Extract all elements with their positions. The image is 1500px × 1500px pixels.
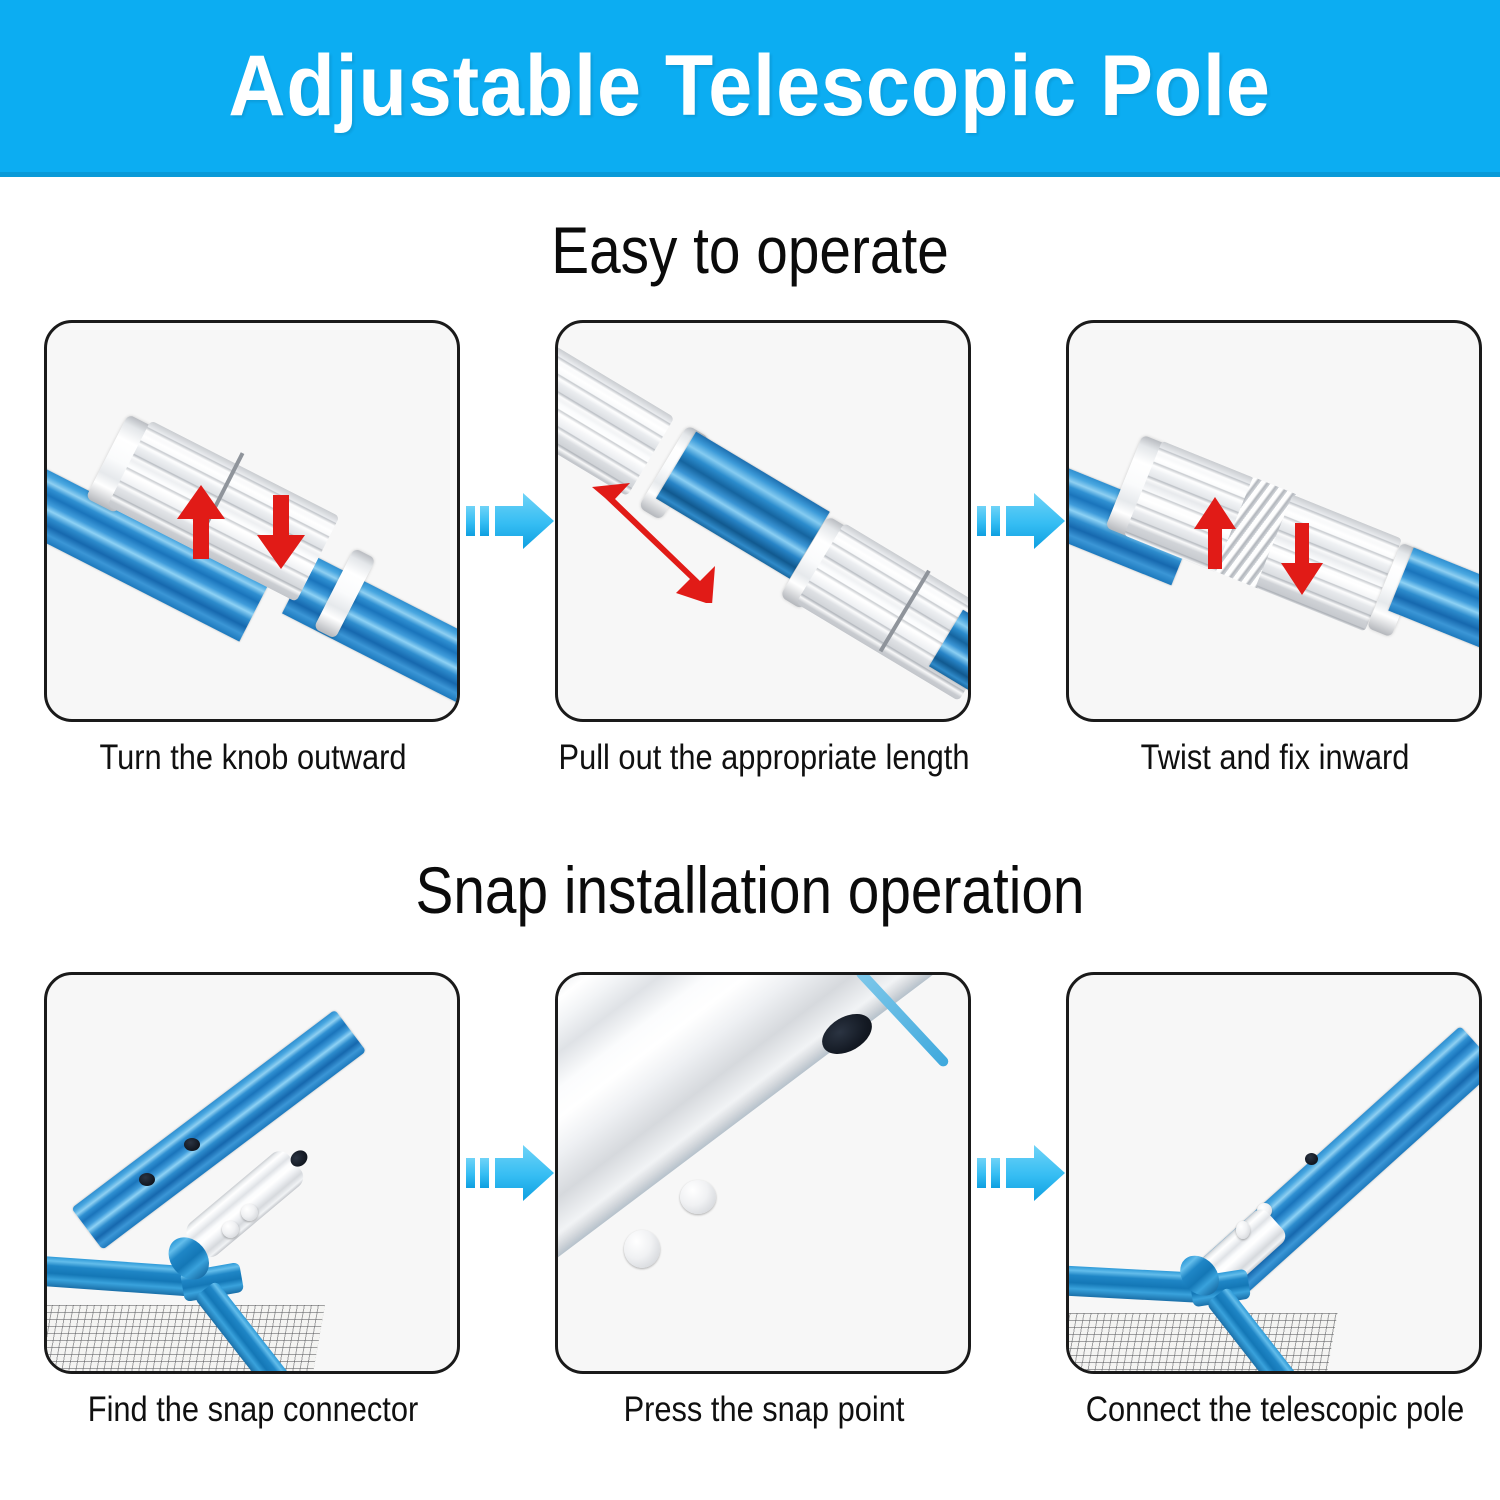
net-mesh [1066, 1313, 1338, 1374]
step-caption: Press the snap point [554, 1390, 975, 1430]
snap-button-upper [680, 1180, 716, 1214]
step-image-panel [1066, 320, 1482, 722]
snap-button-upper [241, 1204, 258, 1221]
ribbed-tube-upper [555, 320, 675, 496]
step-card-pull-out-length: Pull out the appropriate length [555, 320, 973, 722]
section-title-easy-to-operate: Easy to operate [105, 212, 1395, 288]
arrow-up-icon [175, 483, 227, 561]
pole-pin-hole-lower [139, 1173, 155, 1186]
step-caption: Connect the telescopic pole [1065, 1390, 1486, 1430]
net-mesh [44, 1305, 325, 1374]
step-image-panel [44, 972, 460, 1374]
step-caption: Pull out the appropriate length [554, 738, 975, 778]
step-card-connect-telescopic-pole: Connect the telescopic pole [1066, 972, 1484, 1374]
arrow-down-icon [1279, 521, 1325, 597]
arrow-down-icon [255, 493, 307, 571]
right-arrow-icon [466, 490, 556, 552]
page-title: Adjustable Telescopic Pole [229, 37, 1272, 136]
illustration-snap-point-closeup [558, 975, 968, 1371]
step-card-twist-and-fix: Twist and fix inward [1066, 320, 1484, 722]
steps-row-snap-installation: Find the snap connector Press the snap p… [0, 972, 1500, 1374]
steps-row-easy-to-operate: Turn the knob outward [0, 320, 1500, 722]
step-image-panel [555, 320, 971, 722]
double-headed-arrow-icon [582, 473, 722, 603]
step-image-panel [1066, 972, 1482, 1374]
step-caption: Turn the knob outward [43, 738, 464, 778]
snap-button-lower [222, 1221, 239, 1238]
illustration-pole-extended [558, 323, 968, 719]
step-image-panel [555, 972, 971, 1374]
step-caption: Twist and fix inward [1065, 738, 1486, 778]
step-image-panel [44, 320, 460, 722]
pole-pin-hole [1305, 1153, 1318, 1165]
blue-pole-segment-right [282, 555, 460, 722]
right-arrow-icon [977, 490, 1067, 552]
illustration-pole-and-net-separated [47, 975, 457, 1371]
pole-pin-hole-upper [184, 1138, 200, 1151]
right-arrow-icon [466, 1142, 556, 1204]
section-title-snap-installation: Snap installation operation [105, 852, 1395, 928]
right-arrow-icon [977, 1142, 1067, 1204]
snap-button-lower [624, 1230, 660, 1268]
step-caption: Find the snap connector [43, 1390, 464, 1430]
step-card-press-snap-point: Press the snap point [555, 972, 973, 1374]
illustration-pole-connected-to-net [1069, 975, 1479, 1371]
page-header-banner: Adjustable Telescopic Pole [0, 0, 1500, 177]
illustration-telescopic-collar-closed [47, 323, 457, 719]
arrow-up-icon [1192, 495, 1238, 571]
illustration-threaded-collar [1069, 323, 1479, 719]
snap-button-side [1236, 1221, 1250, 1239]
step-card-turn-knob-outward: Turn the knob outward [44, 320, 462, 722]
step-card-find-snap-connector: Find the snap connector [44, 972, 462, 1374]
